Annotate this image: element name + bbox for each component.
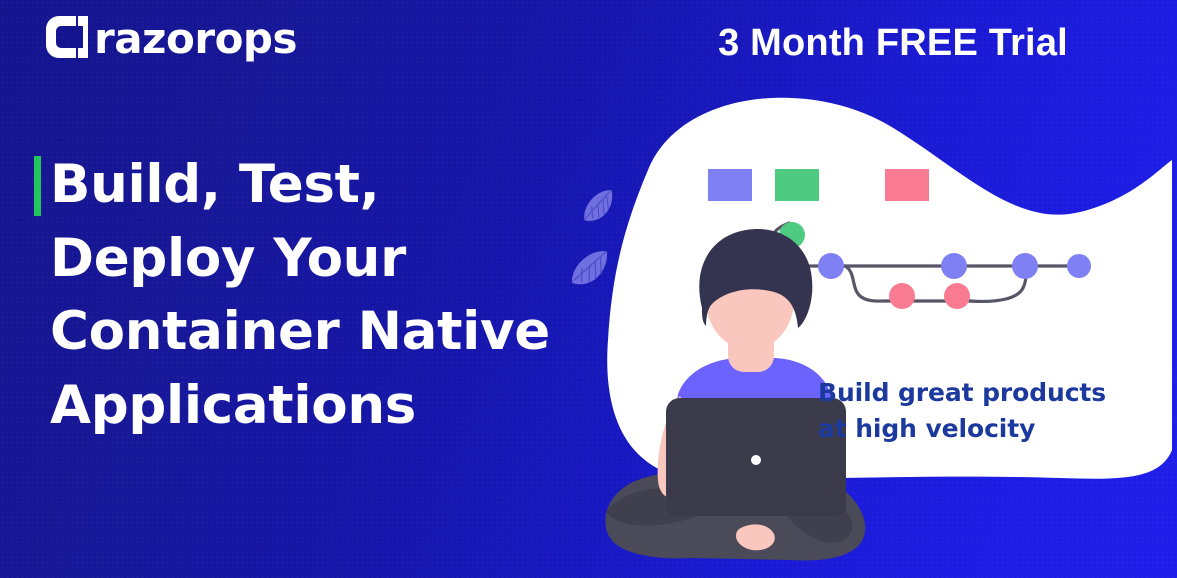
brand-name: razorops: [94, 18, 297, 60]
legend-squares: [708, 169, 929, 201]
commit-node-6: [1067, 254, 1091, 278]
laptop-logo-dot: [751, 455, 761, 465]
hero-banner: razorops 3 Month FREE Trial Build, Test,…: [0, 0, 1177, 578]
commit-node-5: [1012, 253, 1038, 279]
feature-node-pink-1: [889, 283, 915, 309]
commit-node-3: [818, 253, 844, 279]
accent-bar: [34, 156, 41, 216]
page-title: Build, Test, Deploy Your Container Nativ…: [50, 148, 550, 443]
headline-line-2: Deploy Your: [50, 222, 550, 296]
tagline-line-1: Build great products: [818, 375, 1106, 411]
tagline: Build great products at high velocity: [818, 375, 1106, 446]
commit-node-4: [941, 253, 967, 279]
feature-node-pink-2: [944, 283, 970, 309]
leaf-decorations: [565, 187, 621, 288]
headline-line-3: Container Native: [50, 295, 550, 369]
green-square: [775, 169, 819, 201]
free-trial-headline: 3 Month FREE Trial: [683, 22, 1103, 65]
purple-square: [708, 169, 752, 201]
pink-square: [885, 169, 929, 201]
headline-line-1: Build, Test,: [50, 148, 550, 222]
brand-logo[interactable]: razorops: [44, 14, 297, 64]
razorops-bracket-circuit-icon: [44, 14, 90, 64]
tagline-line-2: at high velocity: [818, 411, 1106, 447]
headline-block: Build, Test, Deploy Your Container Nativ…: [34, 148, 550, 443]
headline-line-4: Applications: [50, 369, 550, 443]
illustration: [560, 60, 1177, 578]
